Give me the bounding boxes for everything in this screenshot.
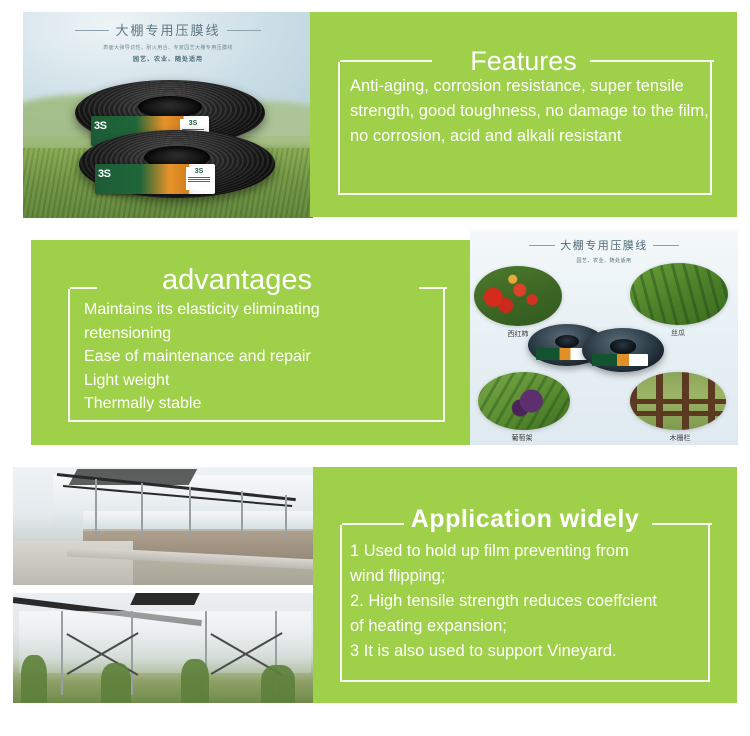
banner-sub1-cn: 表面大弹导切性、耐火用合、专家园艺大棚专用压膜线: [23, 44, 313, 51]
application-title: Application widely: [313, 507, 737, 532]
frame-post: [131, 611, 133, 695]
frame-post: [61, 611, 63, 695]
coil-label: [536, 348, 588, 360]
advantages-title: advantages: [162, 266, 312, 295]
product-coil-photo: 大棚专用压膜线 表面大弹导切性、耐火用合、专家园艺大棚专用压膜线 园艺、农业、随…: [23, 12, 313, 218]
application-body: 1 Used to hold up film preventing from w…: [350, 539, 742, 664]
foreground-plant: [101, 663, 131, 703]
foreground-plant: [21, 655, 47, 703]
foreground-plant: [261, 665, 295, 703]
banner-sub2-cn: 园艺、农业、随处适用: [23, 54, 313, 63]
greenhouse-side-panel: [83, 511, 313, 531]
oval-caption-wooden-fence: 木栅栏: [650, 433, 710, 443]
application-line: 2. High tensile strength reduces coeffci…: [350, 589, 742, 614]
collage-coil-right: [582, 328, 664, 372]
oval-photo-wooden-fence: [630, 372, 726, 430]
oval-caption-luffa: 丝瓜: [648, 328, 708, 338]
application-line: 1 Used to hold up film preventing from: [350, 539, 742, 564]
roof-vent-shade: [130, 593, 200, 605]
application-line: wind flipping;: [350, 564, 742, 589]
collage-banner: 大棚专用压膜线 园艺、农业、随处适用: [470, 236, 738, 264]
features-body: Anti-aging, corrosion resistance, super …: [350, 74, 714, 149]
support-post: [95, 479, 97, 537]
foreground-plant: [181, 659, 209, 703]
greenhouse-exterior-photo: [13, 467, 313, 585]
coil-label-bottom: 3S 3S: [95, 164, 215, 194]
support-post: [189, 487, 191, 537]
support-post: [141, 483, 143, 537]
advantages-panel: advantages Maintains its elasticity elim…: [31, 240, 472, 445]
spec-tag: 3S: [186, 167, 212, 190]
banner-title-cn: 大棚专用压膜线: [115, 20, 220, 39]
application-line: of heating expansion;: [350, 614, 742, 639]
chinese-banner: 大棚专用压膜线 表面大弹导切性、耐火用合、专家园艺大棚专用压膜线 园艺、农业、随…: [23, 20, 313, 63]
roof-vent-shade: [69, 469, 198, 485]
coil-hole: [555, 335, 580, 348]
greenhouse-interior-photo: [13, 593, 313, 703]
spec-tag-text: 3S: [186, 167, 212, 176]
application-collage-photo: 大棚专用压膜线 园艺、农业、随处适用 西红柿 丝瓜 葡萄架 木栅栏: [470, 230, 738, 445]
application-line: 3 It is also used to support Vineyard.: [350, 639, 742, 664]
oval-photo-grape-trellis: [478, 372, 570, 430]
spec-tag-text: 3S: [180, 119, 206, 128]
oval-photo-luffa: [630, 263, 728, 325]
collage-title-cn: 大棚专用压膜线: [560, 237, 648, 253]
features-title: Features: [310, 48, 737, 75]
support-post: [285, 495, 287, 537]
advantages-line: retensioning: [84, 322, 454, 346]
brand-text: 3S: [98, 168, 110, 180]
oval-caption-grape-trellis: 葡萄架: [492, 433, 552, 443]
oval-photo-tomato: [474, 266, 562, 326]
coil-label: [592, 354, 648, 366]
advantages-line: Thermally stable: [84, 392, 454, 416]
brand-text: 3S: [94, 120, 106, 132]
features-panel: Features Anti-aging, corrosion resistanc…: [310, 12, 737, 217]
advantages-body: Maintains its elasticity eliminating ret…: [84, 298, 454, 416]
advantages-line: Ease of maintenance and repair: [84, 345, 454, 369]
advantages-line: Maintains its elasticity eliminating: [84, 298, 454, 322]
coil-hole: [610, 339, 636, 353]
collage-subtitle-cn: 园艺、农业、随处适用: [470, 257, 738, 264]
advantages-line: Light weight: [84, 369, 454, 393]
application-panel: Application widely 1 Used to hold up fil…: [313, 467, 737, 703]
support-post: [241, 491, 243, 537]
